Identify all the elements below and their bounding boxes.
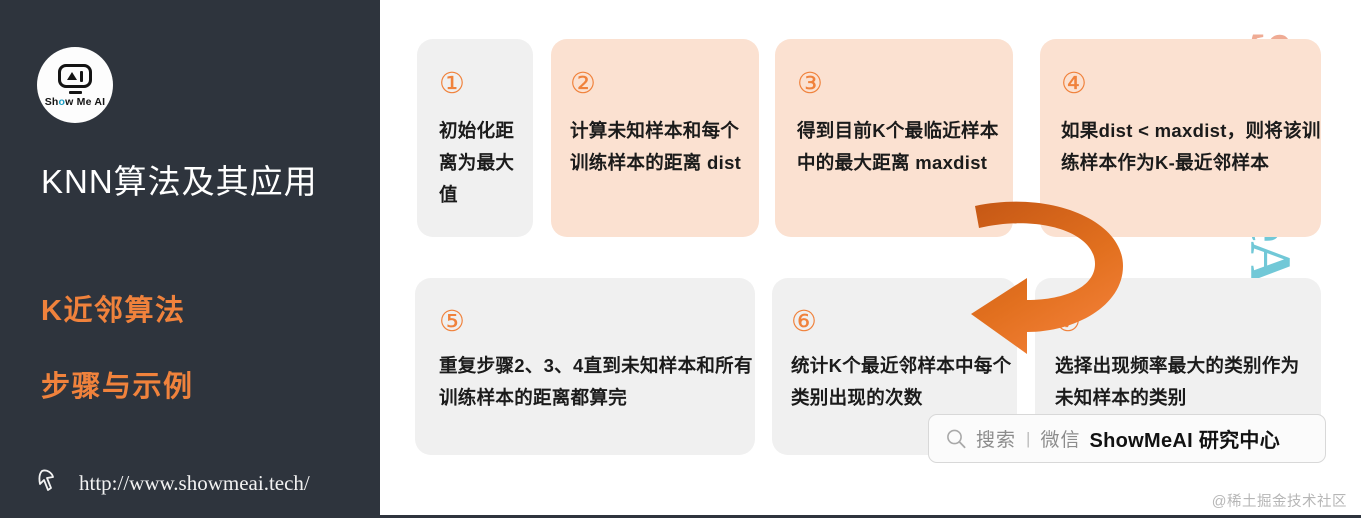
step-text-2: 计算未知样本和每个训练样本的距离 dist	[570, 115, 756, 179]
search-magnifier-icon	[945, 428, 967, 450]
step-text-7: 选择出现频率最大的类别作为未知样本的类别	[1055, 350, 1317, 414]
step-text-6: 统计K个最近邻样本中每个类别出现的次数	[791, 350, 1013, 414]
logo-wordmark-part2: w Me AI	[65, 96, 105, 108]
website-link[interactable]: http://www.showmeai.tech/	[38, 468, 310, 498]
show-me-ai-robot-logo-icon: Show Me AI	[37, 47, 113, 123]
sidebar: Show Me AI KNN算法及其应用 K近邻算法 步骤与示例 http://…	[0, 0, 380, 518]
website-url-text: http://www.showmeai.tech/	[79, 471, 310, 496]
caret-glyph	[67, 72, 77, 80]
logo-wordmark: Show Me AI	[45, 96, 106, 108]
subtitle-secondary: 步骤与示例	[41, 363, 194, 405]
step-number-6: ⑥	[791, 307, 817, 336]
step-card-2[interactable]: ② 计算未知样本和每个训练样本的距离 dist	[551, 39, 759, 237]
step-text-4: 如果dist < maxdist，则将该训练样本作为K-最近邻样本	[1061, 115, 1321, 179]
step-text-3: 得到目前K个最临近样本中的最大距离 maxdist	[797, 115, 1012, 179]
step-text-5: 重复步骤2、3、4直到未知样本和所有训练样本的距离都算完	[439, 350, 754, 414]
step-card-5[interactable]: ⑤ 重复步骤2、3、4直到未知样本和所有训练样本的距离都算完	[415, 278, 755, 455]
logo-wordmark-part1: Sh	[45, 96, 59, 108]
wechat-search-bar[interactable]: 搜索 | 微信 ShowMeAI 研究中心	[928, 414, 1326, 463]
step-card-1[interactable]: ① 初始化距离为最大值	[417, 39, 533, 237]
step-number-5: ⑤	[439, 307, 465, 336]
subtitle-primary: K近邻算法	[41, 287, 185, 329]
cursor-pointer-icon	[38, 468, 66, 498]
robot-neck-glyph	[69, 91, 82, 94]
robot-face-icon	[58, 64, 92, 88]
content-panel: ShowMeAI ① 初始化距离为最大值 ② 计算未知样本和每个训练样本的距离 …	[380, 0, 1361, 518]
step-text-1: 初始化距离为最大值	[439, 115, 531, 210]
search-brand: ShowMeAI 研究中心	[1089, 424, 1280, 453]
step-number-3: ③	[797, 69, 823, 98]
step-card-3[interactable]: ③ 得到目前K个最临近样本中的最大距离 maxdist	[775, 39, 1013, 237]
footer-attribution: @稀土掘金技术社区	[1212, 490, 1347, 511]
step-number-4: ④	[1061, 69, 1087, 98]
search-label: 搜索	[976, 425, 1016, 452]
bar-glyph	[80, 71, 83, 82]
slide-root: Show Me AI KNN算法及其应用 K近邻算法 步骤与示例 http://…	[0, 0, 1361, 518]
page-title: KNN算法及其应用	[41, 155, 318, 203]
step-number-2: ②	[570, 69, 596, 98]
step-number-1: ①	[439, 69, 465, 98]
search-divider: |	[1025, 429, 1031, 449]
step-number-7: ⑦	[1055, 307, 1081, 336]
step-card-4[interactable]: ④ 如果dist < maxdist，则将该训练样本作为K-最近邻样本	[1040, 39, 1321, 237]
search-channel: 微信	[1040, 425, 1080, 452]
